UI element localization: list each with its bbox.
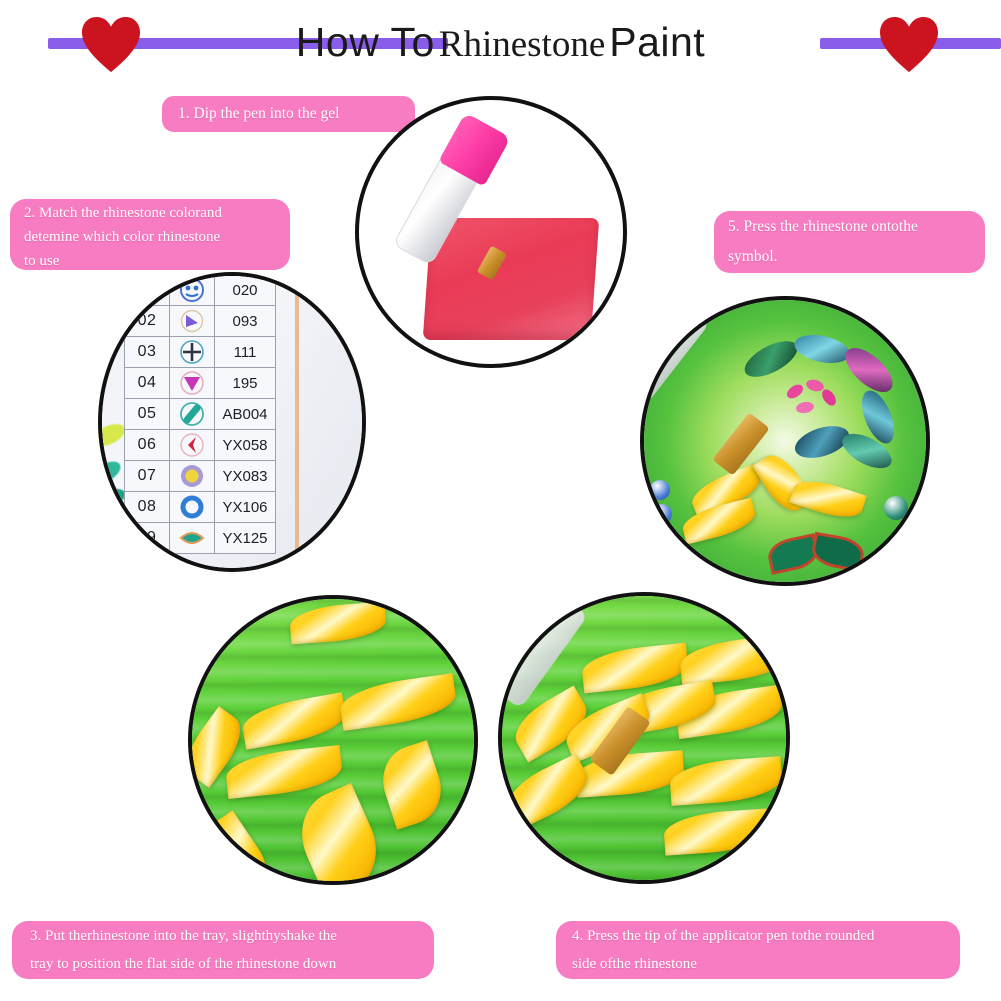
- step-3-label: 3. Put therhinestone into the tray, slig…: [12, 921, 434, 979]
- row-number: 08: [125, 492, 170, 523]
- step-3-line-2: tray to position the flat side of the rh…: [30, 950, 426, 978]
- yellow-rhinestone: [663, 808, 772, 855]
- canvas-sheet: 01 020 02: [102, 276, 362, 568]
- infographic-canvas: How To Rhinestone Paint 1. Dip the pen i…: [0, 0, 1001, 1001]
- row-number: 05: [125, 399, 170, 430]
- gem-accent: [819, 387, 838, 408]
- yellow-rhinestone: [678, 634, 790, 685]
- page-title: How To Rhinestone Paint: [0, 16, 1001, 78]
- table-row: 06 YX058: [125, 430, 276, 461]
- step-5-label: 5. Press the rhinestone ontothe symbol.: [714, 211, 985, 273]
- row-code: 020: [215, 275, 276, 306]
- row-number: 04: [125, 368, 170, 399]
- row-number: 03: [125, 337, 170, 368]
- table-row: 07 YX083: [125, 461, 276, 492]
- row-number: 09: [125, 523, 170, 554]
- step-5-line-2: symbol.: [728, 242, 975, 272]
- chevron-left-icon: [179, 432, 205, 458]
- step-3-line-1: 3. Put therhinestone into the tray, slig…: [30, 922, 426, 950]
- photo-step-2-color-chart: 01 020 02: [98, 272, 366, 572]
- filled-circle-icon: [179, 463, 205, 489]
- row-code: 093: [215, 306, 276, 337]
- row-number: 06: [125, 430, 170, 461]
- row-symbol-cell: [170, 306, 215, 337]
- photo-step-3-stones-in-tray: [188, 595, 478, 885]
- slash-oval-icon: [179, 401, 205, 427]
- title-part-2: Rhinestone: [439, 24, 605, 65]
- yellow-rhinestone: [679, 497, 758, 544]
- table-row: 03 111: [125, 337, 276, 368]
- yellow-rhinestone: [669, 756, 784, 806]
- yellow-rhinestone: [374, 740, 451, 830]
- photo-step-1-pen-in-gel: [355, 96, 627, 368]
- yellow-rhinestone: [188, 810, 284, 885]
- row-code: 111: [215, 337, 276, 368]
- color-chart-body: 01 020 02: [125, 275, 276, 554]
- row-code: YX083: [215, 461, 276, 492]
- row-number: 07: [125, 461, 170, 492]
- step-4-line-2: side ofthe rhinestone: [572, 950, 952, 978]
- row-symbol-cell: [170, 399, 215, 430]
- color-chart-table: 01 020 02: [124, 274, 276, 554]
- table-row: 02 093: [125, 306, 276, 337]
- row-code: YX058: [215, 430, 276, 461]
- yellow-rhinestone: [287, 783, 391, 885]
- green-ribbed-tray: [192, 599, 474, 881]
- photo-step-1-scene: [359, 100, 623, 364]
- stray-rhinestone: [98, 457, 124, 488]
- row-number: 01: [125, 275, 170, 306]
- pen-barrel: [640, 296, 710, 405]
- canvas-mandala-artwork: [644, 300, 926, 582]
- ring-circle-icon: [179, 494, 205, 520]
- row-symbol-cell: [170, 430, 215, 461]
- gem-bead: [884, 496, 908, 520]
- yellow-rhinestone: [224, 745, 344, 799]
- green-ribbed-tray: [502, 596, 786, 880]
- table-row: 04 195: [125, 368, 276, 399]
- row-symbol-cell: [170, 368, 215, 399]
- row-code: 195: [215, 368, 276, 399]
- row-symbol-cell: [170, 275, 215, 306]
- row-symbol-cell: [170, 492, 215, 523]
- yellow-rhinestone: [338, 673, 459, 731]
- yellow-rhinestone: [289, 602, 387, 645]
- row-code: AB004: [215, 399, 276, 430]
- row-code: YX125: [215, 523, 276, 554]
- table-row: 01 020: [125, 275, 276, 306]
- gem-accent: [795, 401, 815, 415]
- step-2-line-1: 2. Match the rhinestone colorand: [24, 201, 280, 225]
- triangle-right-icon: [179, 308, 205, 334]
- sheet-tape-stripe: [295, 276, 299, 568]
- gem-bead: [658, 528, 678, 548]
- yellow-rhinestone: [239, 692, 348, 749]
- header: How To Rhinestone Paint: [0, 0, 1001, 86]
- gem-petal: [792, 330, 852, 367]
- yellow-rhinestone: [789, 474, 867, 525]
- red-gel-pad: [423, 218, 600, 340]
- title-part-1: How To: [296, 19, 435, 65]
- row-number: 02: [125, 306, 170, 337]
- gem-petal: [739, 334, 802, 384]
- leaf-eye-icon: [179, 525, 205, 551]
- gem-bead: [652, 504, 672, 524]
- step-2-line-2: detemine which color rhinestone: [24, 225, 280, 249]
- gem-bead: [650, 480, 670, 500]
- photo-step-4-pen-picking-stone: [498, 592, 790, 884]
- gem-leaf-outline: [810, 532, 867, 573]
- title-part-3: Paint: [609, 19, 705, 65]
- step-2-line-3: to use: [24, 249, 280, 273]
- row-symbol-cell: [170, 523, 215, 554]
- table-row: 09 YX125: [125, 523, 276, 554]
- table-row: 08 YX106: [125, 492, 276, 523]
- triangle-down-icon: [179, 370, 205, 396]
- row-code: YX106: [215, 492, 276, 523]
- step-2-label: 2. Match the rhinestone colorand detemin…: [10, 199, 290, 270]
- step-4-label: 4. Press the tip of the applicator pen t…: [556, 921, 960, 979]
- step-4-line-1: 4. Press the tip of the applicator pen t…: [572, 922, 952, 950]
- photo-step-5-press-onto-symbol: [640, 296, 930, 586]
- table-row: 05 AB004: [125, 399, 276, 430]
- plus-cross-icon: [179, 339, 205, 365]
- row-symbol-cell: [170, 337, 215, 368]
- gem-accent: [784, 382, 805, 401]
- smile-face-icon: [179, 277, 205, 303]
- row-symbol-cell: [170, 461, 215, 492]
- step-5-line-1: 5. Press the rhinestone ontothe: [728, 212, 975, 242]
